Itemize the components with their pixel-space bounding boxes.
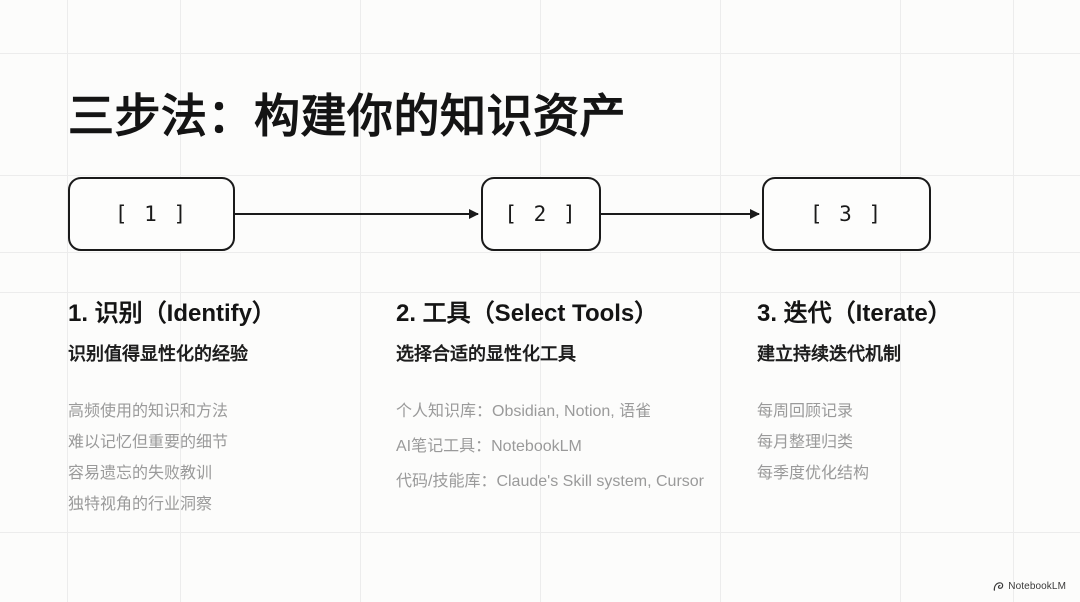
list-item: 高频使用的知识和方法	[68, 400, 368, 425]
list-item: 难以记忆但重要的细节	[68, 431, 368, 456]
notebooklm-watermark: NotebookLM	[993, 581, 1066, 592]
slide-canvas: 三步法：构建你的知识资产 [ 1 ] [ 2 ] [ 3 ] 1. 识别（Ide…	[0, 0, 1080, 602]
column-iterate-subtitle: 建立持续迭代机制	[757, 343, 1057, 366]
column-iterate-list: 每周回顾记录 每月整理归类 每季度优化结构	[757, 400, 1057, 486]
column-select-tools-subtitle: 选择合适的显性化工具	[396, 343, 712, 366]
arrow-step1-to-step2	[235, 213, 478, 215]
step-box-2-label: [ 2 ]	[504, 202, 577, 226]
column-identify: 1. 识别（Identify） 识别值得显性化的经验 高频使用的知识和方法 难以…	[68, 300, 368, 523]
list-item: 容易遗忘的失败教训	[68, 462, 368, 487]
page-title: 三步法：构建你的知识资产	[68, 89, 626, 144]
step-box-1-label: [ 1 ]	[115, 202, 188, 226]
step-box-2: [ 2 ]	[481, 177, 601, 251]
steps-diagram: [ 1 ] [ 2 ] [ 3 ]	[0, 177, 1080, 253]
column-select-tools-heading: 2. 工具（Select Tools）	[396, 300, 712, 329]
step-box-3-label: [ 3 ]	[810, 202, 883, 226]
column-select-tools-list: 个人知识库：Obsidian, Notion, 语雀 AI笔记工具：Notebo…	[396, 400, 712, 494]
column-identify-list: 高频使用的知识和方法 难以记忆但重要的细节 容易遗忘的失败教训 独特视角的行业洞…	[68, 400, 368, 517]
list-item: 每月整理归类	[757, 431, 1057, 456]
list-item: AI笔记工具：NotebookLM	[396, 435, 712, 460]
step-box-3: [ 3 ]	[762, 177, 931, 251]
column-iterate-heading: 3. 迭代（Iterate）	[757, 300, 1057, 329]
list-item: 每季度优化结构	[757, 462, 1057, 487]
list-item: 每周回顾记录	[757, 400, 1057, 425]
column-select-tools: 2. 工具（Select Tools） 选择合适的显性化工具 个人知识库：Obs…	[396, 300, 712, 505]
notebooklm-watermark-label: NotebookLM	[1008, 581, 1066, 592]
column-identify-subtitle: 识别值得显性化的经验	[68, 343, 368, 366]
column-identify-heading: 1. 识别（Identify）	[68, 300, 368, 329]
step-box-1: [ 1 ]	[68, 177, 235, 251]
arrow-step2-to-step3	[601, 213, 759, 215]
column-iterate: 3. 迭代（Iterate） 建立持续迭代机制 每周回顾记录 每月整理归类 每季…	[757, 300, 1057, 493]
list-item: 个人知识库：Obsidian, Notion, 语雀	[396, 400, 712, 425]
list-item: 代码/技能库：Claude's Skill system, Cursor	[396, 470, 712, 495]
list-item: 独特视角的行业洞察	[68, 493, 368, 518]
notebooklm-logo-icon	[993, 581, 1004, 592]
